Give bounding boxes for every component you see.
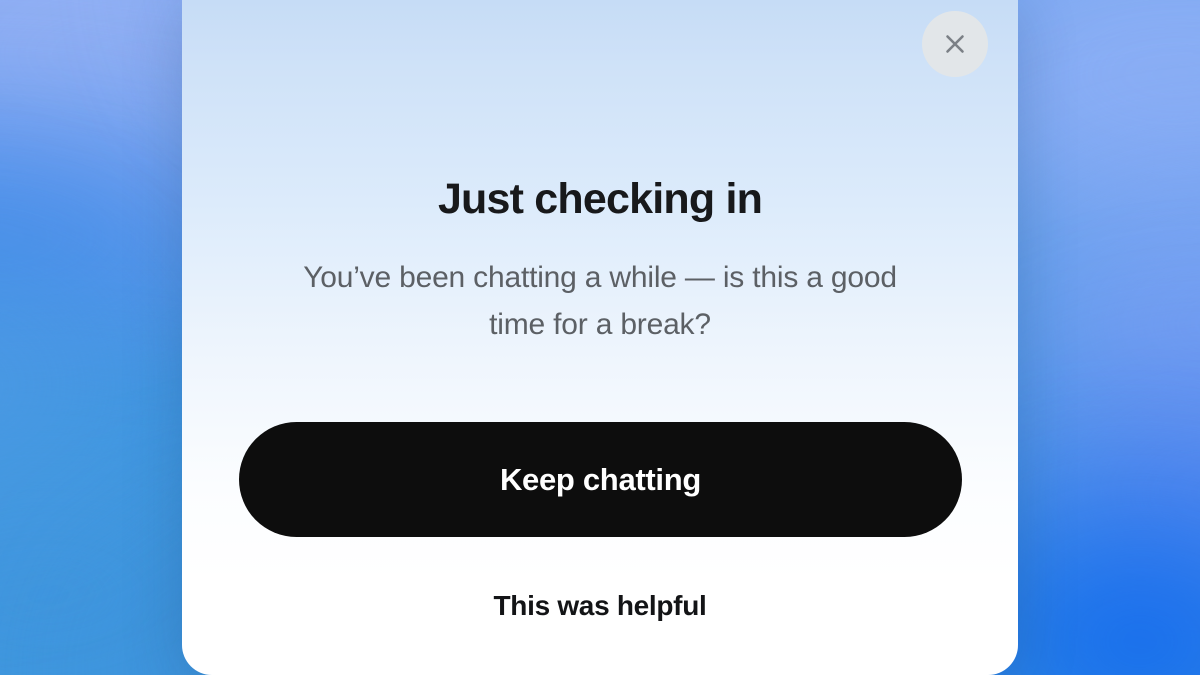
keep-chatting-button[interactable]: Keep chatting <box>239 422 962 537</box>
close-button[interactable] <box>922 11 988 77</box>
this-was-helpful-button[interactable]: This was helpful <box>182 590 1018 622</box>
close-icon <box>942 31 968 57</box>
page-title: Just checking in <box>182 176 1018 223</box>
modal-subtitle: You’ve been chatting a while — is this a… <box>274 254 926 349</box>
check-in-modal: Just checking in You’ve been chatting a … <box>182 0 1018 675</box>
